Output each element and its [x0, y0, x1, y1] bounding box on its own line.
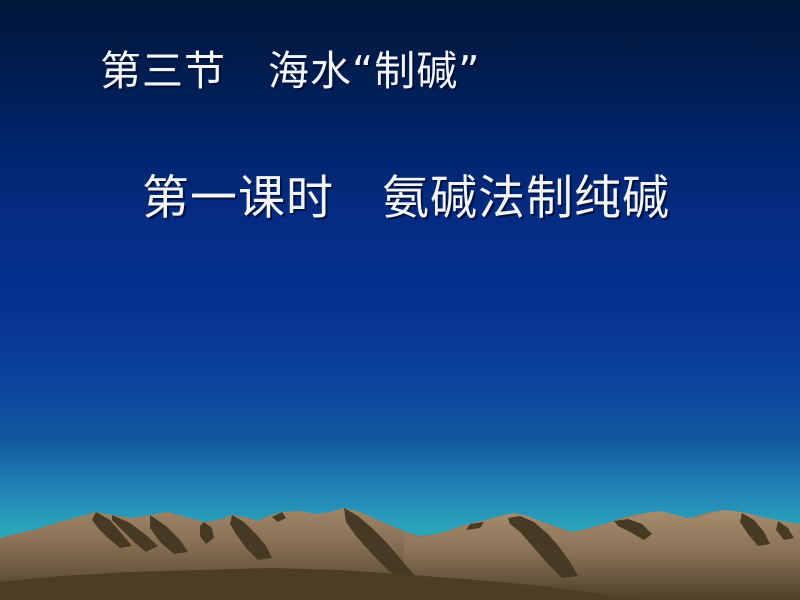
title-block: 第三节 海水“制碱” 第一课时 氨碱法制纯碱	[0, 0, 800, 300]
mountain-range-graphic	[0, 490, 800, 600]
presentation-slide: 第三节 海水“制碱” 第一课时 氨碱法制纯碱	[0, 0, 800, 600]
slide-subtitle-line-2: 第一课时 氨碱法制纯碱	[142, 168, 670, 230]
slide-title-line-1: 第三节 海水“制碱”	[100, 44, 480, 99]
